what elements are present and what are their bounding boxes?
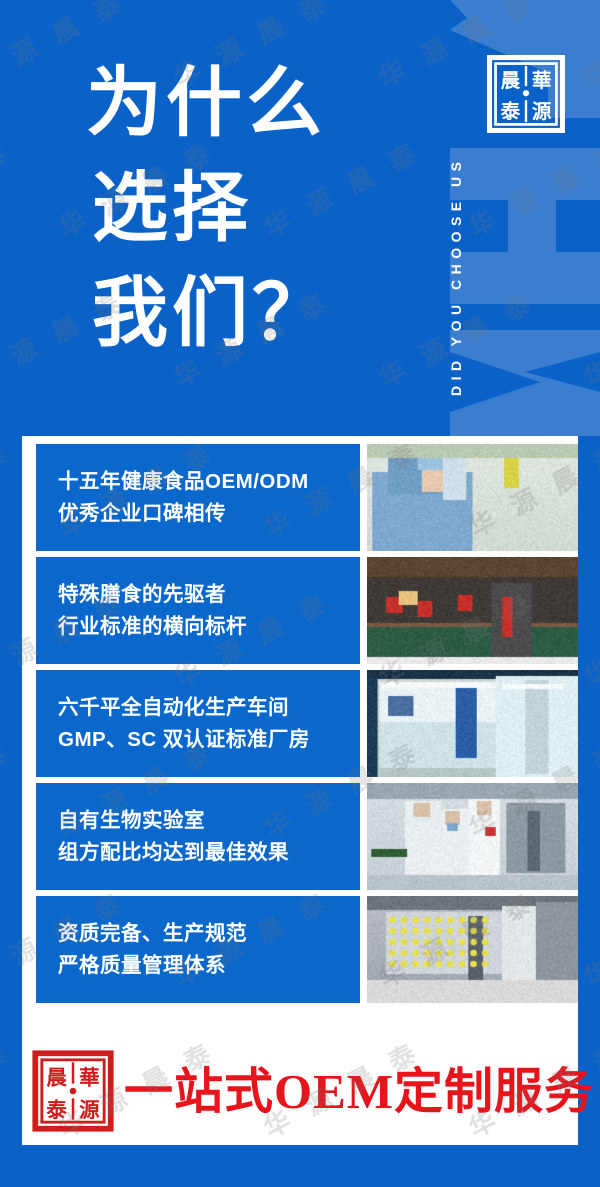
header-seal-icon: 晨 華 泰 源 <box>487 55 565 133</box>
feature-row: 自有生物实验室 组方配比均达到最佳效果 <box>36 783 578 890</box>
feature-line-2: 行业标准的横向标杆 <box>58 611 352 642</box>
feature-line-2: GMP、SC 双认证标准厂房 <box>58 724 352 755</box>
svg-text:華: 華 <box>532 69 552 92</box>
feature-row: 特殊膳食的先驱者 行业标准的横向标杆 <box>36 557 578 664</box>
vertical-english-caption: DID YOU CHOOSE US <box>428 0 456 400</box>
svg-text:華: 華 <box>79 1065 100 1089</box>
feature-row-list: 十五年健康食品OEM/ODM 优秀企业口碑相传 特殊膳食的先驱者 行业标准的横向… <box>36 444 578 1009</box>
title-line-2: 选择 <box>86 157 376 262</box>
svg-text:源: 源 <box>79 1098 100 1122</box>
header-section: 为什么 选择 我们？ DID YOU CHOOSE US 晨 華 泰 源 <box>0 0 600 436</box>
svg-text:晨: 晨 <box>46 1065 67 1089</box>
feature-card: 资质完备、生产规范 严格质量管理体系 <box>36 896 360 1003</box>
feature-card: 十五年健康食品OEM/ODM 优秀企业口碑相传 <box>36 444 360 551</box>
svg-text:泰: 泰 <box>45 1098 67 1122</box>
watermark-text: 华 源 晨 泰 <box>0 432 17 546</box>
feature-line-2: 严格质量管理体系 <box>58 950 352 981</box>
watermark-text: 华 源 晨 泰 <box>576 1182 600 1187</box>
watermark-text: 华 源 晨 泰 <box>576 882 600 996</box>
footer-seal-icon: 晨 華 泰 源 <box>32 1050 114 1132</box>
title-line-1: 为什么 <box>86 52 376 157</box>
svg-text:源: 源 <box>532 100 552 123</box>
watermark-text: 华 源 晨 泰 <box>0 1032 17 1146</box>
feature-line-2: 组方配比均达到最佳效果 <box>58 837 352 868</box>
footer-banner: 晨 華 泰 源 一站式OEM定制服务 <box>22 1037 578 1145</box>
feature-line-1: 六千平全自动化生产车间 <box>58 692 352 723</box>
feature-row: 资质完备、生产规范 严格质量管理体系 <box>36 896 578 1003</box>
feature-line-1: 自有生物实验室 <box>58 805 352 836</box>
page-title: 为什么 选择 我们？ <box>86 52 376 367</box>
watermark-text: 华 源 晨 泰 <box>371 1182 541 1187</box>
feature-row: 十五年健康食品OEM/ODM 优秀企业口碑相传 <box>36 444 578 551</box>
watermark-text: 华 源 晨 泰 <box>576 582 600 696</box>
feature-photo-cleanroom <box>367 670 578 777</box>
feature-photo-packaging-line <box>367 783 578 890</box>
footer-slogan: 一站式OEM定制服务 <box>124 1067 594 1116</box>
svg-text:晨: 晨 <box>501 69 521 92</box>
feature-row: 六千平全自动化生产车间 GMP、SC 双认证标准厂房 <box>36 670 578 777</box>
feature-card: 自有生物实验室 组方配比均达到最佳效果 <box>36 783 360 890</box>
poster-root: 为什么 选择 我们？ DID YOU CHOOSE US 晨 華 泰 源 <box>0 0 600 1187</box>
svg-text:泰: 泰 <box>500 100 521 123</box>
feature-line-1: 十五年健康食品OEM/ODM <box>58 466 352 497</box>
feature-photo-conference <box>367 557 578 664</box>
feature-card: 六千平全自动化生产车间 GMP、SC 双认证标准厂房 <box>36 670 360 777</box>
feature-card: 特殊膳食的先驱者 行业标准的横向标杆 <box>36 557 360 664</box>
feature-line-2: 优秀企业口碑相传 <box>58 498 352 529</box>
watermark-text: 华 源 晨 泰 <box>166 1182 336 1187</box>
feature-line-1: 特殊膳食的先驱者 <box>58 579 352 610</box>
feature-photo-lab-technician <box>367 444 578 551</box>
watermark-text: 华 源 晨 泰 <box>0 1182 132 1187</box>
title-line-3: 我们？ <box>86 262 376 367</box>
feature-panel: 十五年健康食品OEM/ODM 优秀企业口碑相传 特殊膳食的先驱者 行业标准的横向… <box>22 436 578 1145</box>
watermark-text: 华 源 晨 泰 <box>0 732 17 846</box>
feature-photo-blister-packing <box>367 896 578 1003</box>
feature-line-1: 资质完备、生产规范 <box>58 918 352 949</box>
vertical-english-text: DID YOU CHOOSE US <box>448 157 464 397</box>
